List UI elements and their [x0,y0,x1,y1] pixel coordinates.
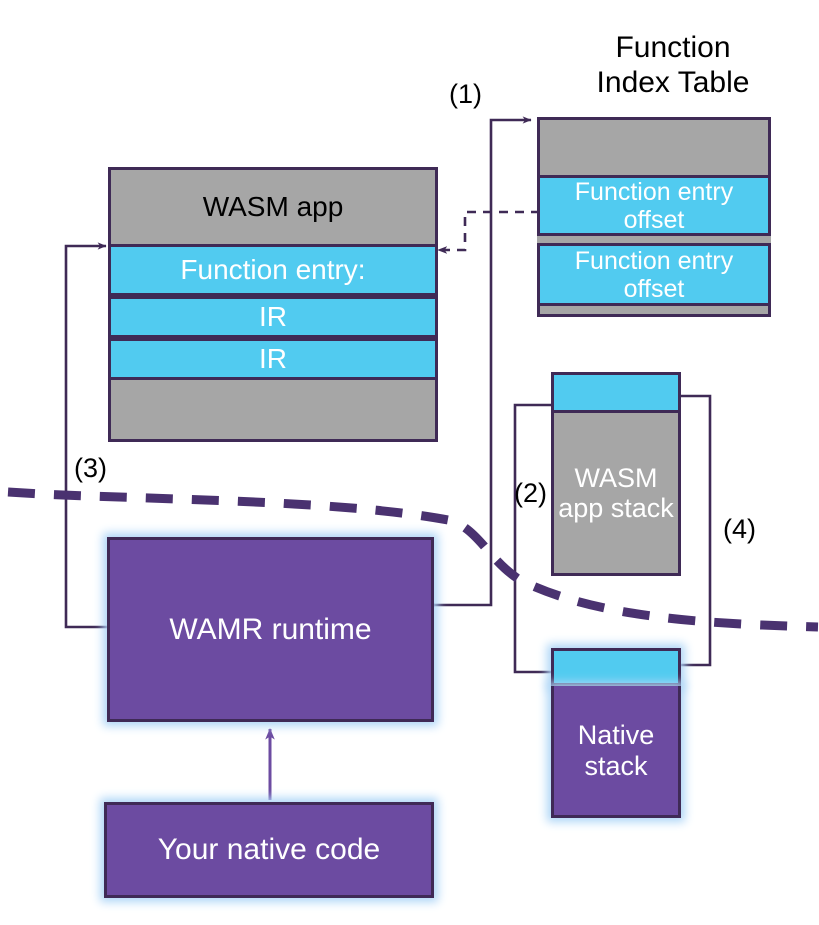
wasm-app-title: WASM app [203,191,344,222]
connector-step-1 [430,120,531,605]
wasm-app-stack-label: WASM app stack [558,463,674,523]
function-index-table-entry-1: Function entry offset [537,178,771,236]
wasm-app-ir-label-2: IR [259,343,287,374]
wasm-app-function-entry-label: Function entry: [180,254,365,285]
connector-step-3 [66,246,107,627]
wasm-app-ir-cell-1: IR [108,296,438,338]
wasm-app-ir-cell-2: IR [108,338,438,380]
wamr-runtime-box: WAMR runtime [107,537,434,722]
function-index-table-heading: Function Index Table [538,30,808,101]
function-index-table-entry-2: Function entry offset [537,243,771,306]
diagram-canvas: Function Index Table (1) (2) (3) (4) WAS… [0,0,819,925]
function-index-table-entry-label-2: Function entry offset [575,247,733,303]
function-index-table-header-cell [537,117,771,178]
step-label-4: (4) [723,514,756,545]
native-stack-label: Native stack [578,720,655,780]
native-stack-top-cell [551,648,681,686]
function-index-table-entry-label-1: Function entry offset [575,178,733,234]
wasm-app-ir-label-1: IR [259,301,287,332]
wasm-app-footer-cell [108,380,438,442]
wasm-app-title-cell: WASM app [108,167,438,247]
step-label-3: (3) [74,453,107,484]
function-index-table-divider-1 [537,236,771,243]
step-label-2: (2) [514,478,547,509]
your-native-code-box: Your native code [104,802,434,898]
wasm-app-stack-top-cell [551,372,681,413]
wamr-runtime-label: WAMR runtime [169,613,371,647]
native-stack-body: Native stack [551,686,681,818]
wasm-app-function-entry-cell: Function entry: [108,247,438,296]
wasm-app-stack-body: WASM app stack [551,413,681,576]
step-label-1: (1) [449,79,482,110]
your-native-code-label: Your native code [158,833,380,867]
function-index-table-divider-2 [537,306,771,317]
